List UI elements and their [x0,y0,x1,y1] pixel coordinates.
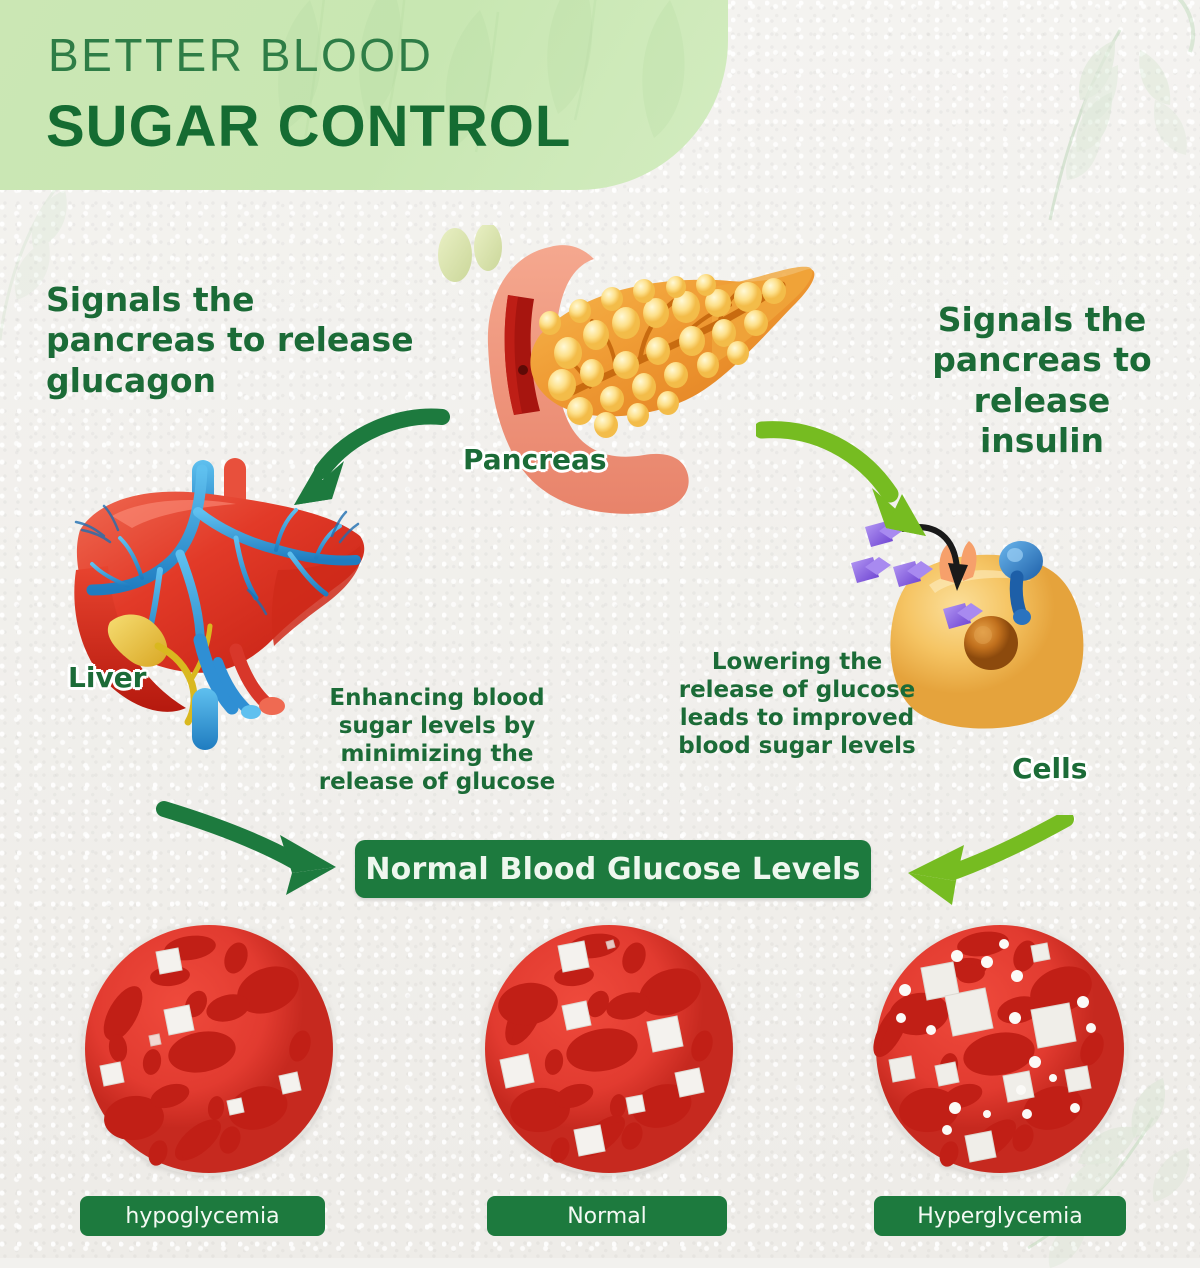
left-signal-text: Signals the pancreas to release glucagon [46,280,426,401]
left-effect-text: Enhancing blood sugar levels by minimizi… [298,684,576,796]
arrow-cells-to-banner [890,815,1080,925]
normal-glucose-banner: Normal Blood Glucose Levels [355,840,871,898]
cells-label: Cells [1012,752,1087,785]
liver-label: Liver [68,661,147,694]
sample-label-hypoglycemia: hypoglycemia [80,1196,325,1236]
right-effect-text: Lowering the release of glucose leads to… [672,648,922,760]
page-title-top: BETTER BLOOD [48,28,433,82]
arrow-pancreas-to-liver [270,395,450,525]
sample-label-normal: Normal [487,1196,727,1236]
right-signal-text: Signals the pancreas to release insulin [908,300,1176,461]
blood-sample-normal [478,918,740,1180]
blood-sample-hyperglycemia [869,918,1131,1180]
pancreas-label: Pancreas [463,443,607,476]
blood-sample-hypoglycemia [78,918,340,1180]
header-panel: BETTER BLOOD SUGAR CONTROL [0,0,728,190]
sample-label-hyperglycemia: Hyperglycemia [874,1196,1126,1236]
arrow-liver-to-banner [150,795,350,910]
page-title-main: SUGAR CONTROL [46,93,571,160]
botanical-watermark-top-right [990,0,1200,240]
